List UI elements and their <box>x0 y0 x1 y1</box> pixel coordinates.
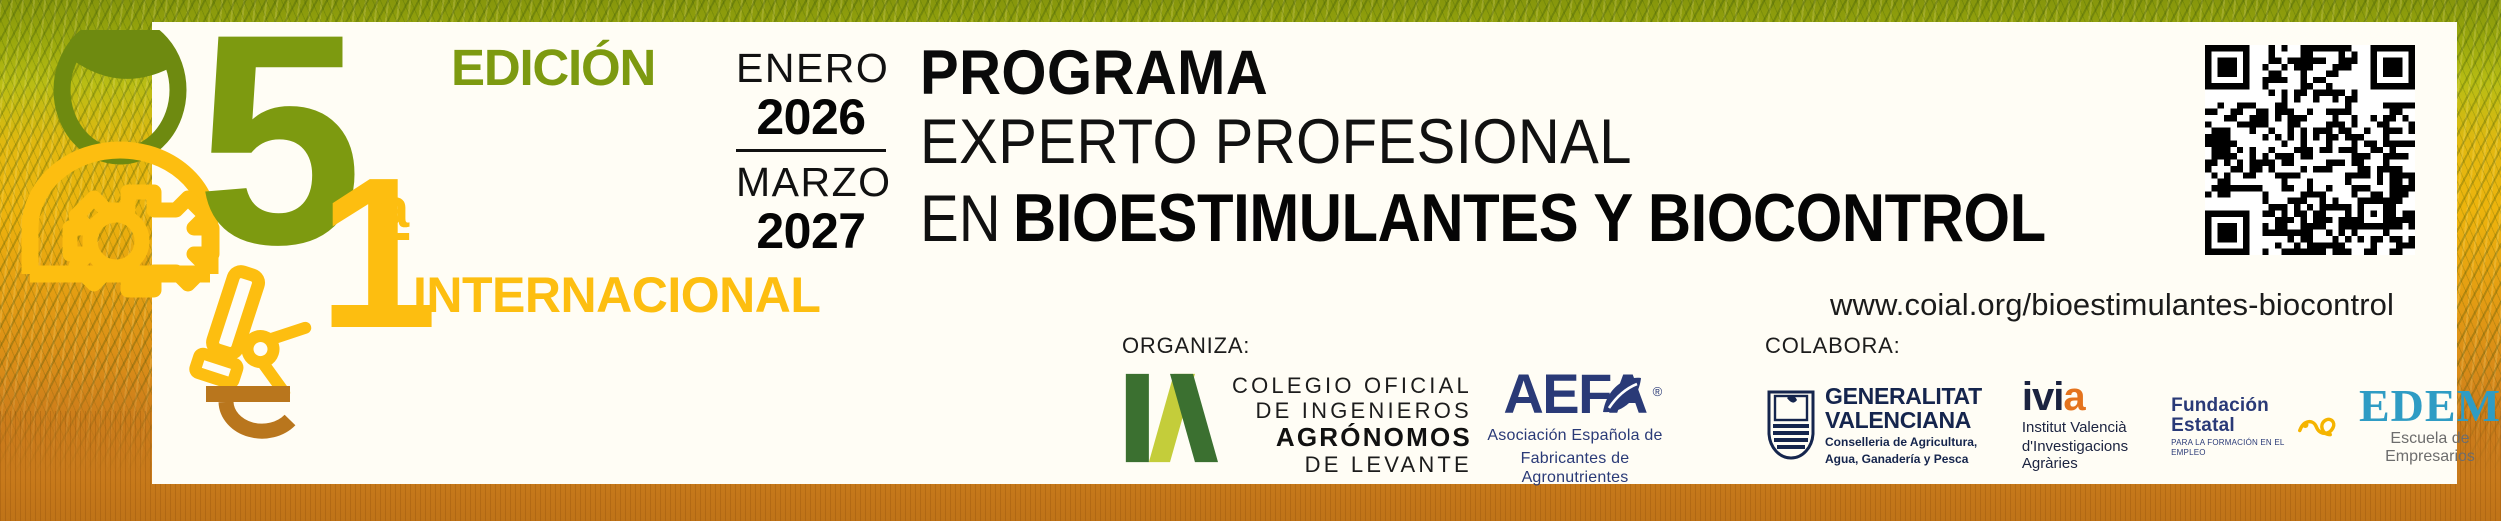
fundacion-estatal-logo: Fundación Estatal PARA LA FORMACIÓN EN E… <box>2171 392 2337 458</box>
ivia-text-ivi: ivi <box>2022 375 2063 419</box>
aefa-subtitle-2: Fabricantes de Agronutrientes <box>1475 449 1675 487</box>
international-ordinal: a <box>378 180 409 236</box>
title-line-programa: PROGRAMA <box>920 40 2153 106</box>
edem-logo: EDEM Escuela de Empresarios <box>2359 383 2501 466</box>
date-divider <box>736 149 886 152</box>
program-banner: 5 EDICIÓN 1 a INTERNACIONAL ENERO 2026 M… <box>0 0 2501 521</box>
coial-mark-icon <box>1122 370 1218 466</box>
edem-subtitle: Escuela de Empresarios <box>2359 430 2501 466</box>
end-year: 2027 <box>736 205 886 257</box>
aefa-wordmark: AEFA ® <box>1503 366 1646 422</box>
qr-code[interactable] <box>2205 45 2415 255</box>
ivia-wordmark: ivia <box>2022 377 2129 417</box>
generalitat-crest-icon <box>1765 390 1817 460</box>
ivia-subtitle-1: Institut Valencià <box>2022 419 2129 436</box>
website-url[interactable]: www.coial.org/bioestimulantes-biocontrol <box>1830 288 2394 322</box>
international-label: INTERNACIONAL <box>413 270 820 320</box>
fundacion-line-1: Fundación Estatal <box>2171 396 2287 436</box>
ivia-text-a: a <box>2063 375 2084 419</box>
edition-label: EDICIÓN <box>451 42 655 93</box>
coial-line-3: AGRÓNOMOS <box>1232 423 1472 452</box>
program-title: PROGRAMA EXPERTO PROFESIONAL EN BIOESTIM… <box>920 40 2260 254</box>
coial-line-2: DE INGENIEROS <box>1232 398 1472 423</box>
title-subject: BIOESTIMULANTES Y BIOCONTROL <box>1013 182 2046 254</box>
coial-logo: COLEGIO OFICIAL DE INGENIEROS AGRÓNOMOS … <box>1122 370 1472 477</box>
aefa-subtitle-1: Asociación Española de <box>1475 426 1675 445</box>
coial-wordmark: COLEGIO OFICIAL DE INGENIEROS AGRÓNOMOS … <box>1232 370 1472 477</box>
generalitat-wordmark: GENERALITAT VALENCIANA Conselleria de Ag… <box>1825 384 1982 466</box>
person-head-icon <box>62 30 178 156</box>
generalitat-line-1: GENERALITAT <box>1825 384 1982 408</box>
microscope-base-icon <box>206 386 290 431</box>
fundacion-line-2: PARA LA FORMACIÓN EN EL EMPLEO <box>2171 438 2287 458</box>
coial-line-4: DE LEVANTE <box>1232 452 1472 477</box>
title-prefix-en: EN <box>920 182 1001 254</box>
start-year: 2026 <box>736 91 886 143</box>
registered-icon: ® <box>1653 364 1661 420</box>
coial-line-1: COLEGIO OFICIAL <box>1232 373 1472 398</box>
colabora-kicker: COLABORA: <box>1765 333 2501 359</box>
international-number: 1 <box>318 160 428 345</box>
generalitat-valenciana-logo: GENERALITAT VALENCIANA Conselleria de Ag… <box>1765 384 1982 466</box>
end-month: MARZO <box>736 159 886 205</box>
edem-wordmark: EDEM <box>2359 383 2501 429</box>
leaf-bird-icon <box>1597 372 1645 420</box>
start-month: ENERO <box>736 45 886 91</box>
aefa-logo: AEFA ® Asociación Española de Fabricante… <box>1475 366 1675 487</box>
colabora-logos: GENERALITAT VALENCIANA Conselleria de Ag… <box>1765 377 2501 472</box>
organiza-section: ORGANIZA: COLEGIO OFICIAL DE INGENIEROS … <box>1122 333 1472 477</box>
title-line-experto: EXPERTO PROFESIONAL <box>920 106 2153 178</box>
colabora-section: COLABORA: GENERALITAT VALENCIANA Consell… <box>1765 333 2501 472</box>
swirl-icon <box>2297 410 2337 444</box>
conselleria-line-1: Conselleria de Agricultura, <box>1825 435 1982 449</box>
ivia-subtitle-2: d'Investigacions Agràries <box>2022 438 2129 472</box>
title-line-bio: EN BIOESTIMULANTES Y BIOCONTROL <box>920 182 2099 254</box>
conselleria-line-2: Agua, Ganadería y Pesca <box>1825 452 1982 466</box>
organiza-kicker: ORGANIZA: <box>1122 333 1472 359</box>
date-range: ENERO 2026 MARZO 2027 <box>736 45 886 257</box>
ivia-logo: ivia Institut Valencià d'Investigacions … <box>2022 377 2129 472</box>
generalitat-line-2: VALENCIANA <box>1825 408 1982 432</box>
